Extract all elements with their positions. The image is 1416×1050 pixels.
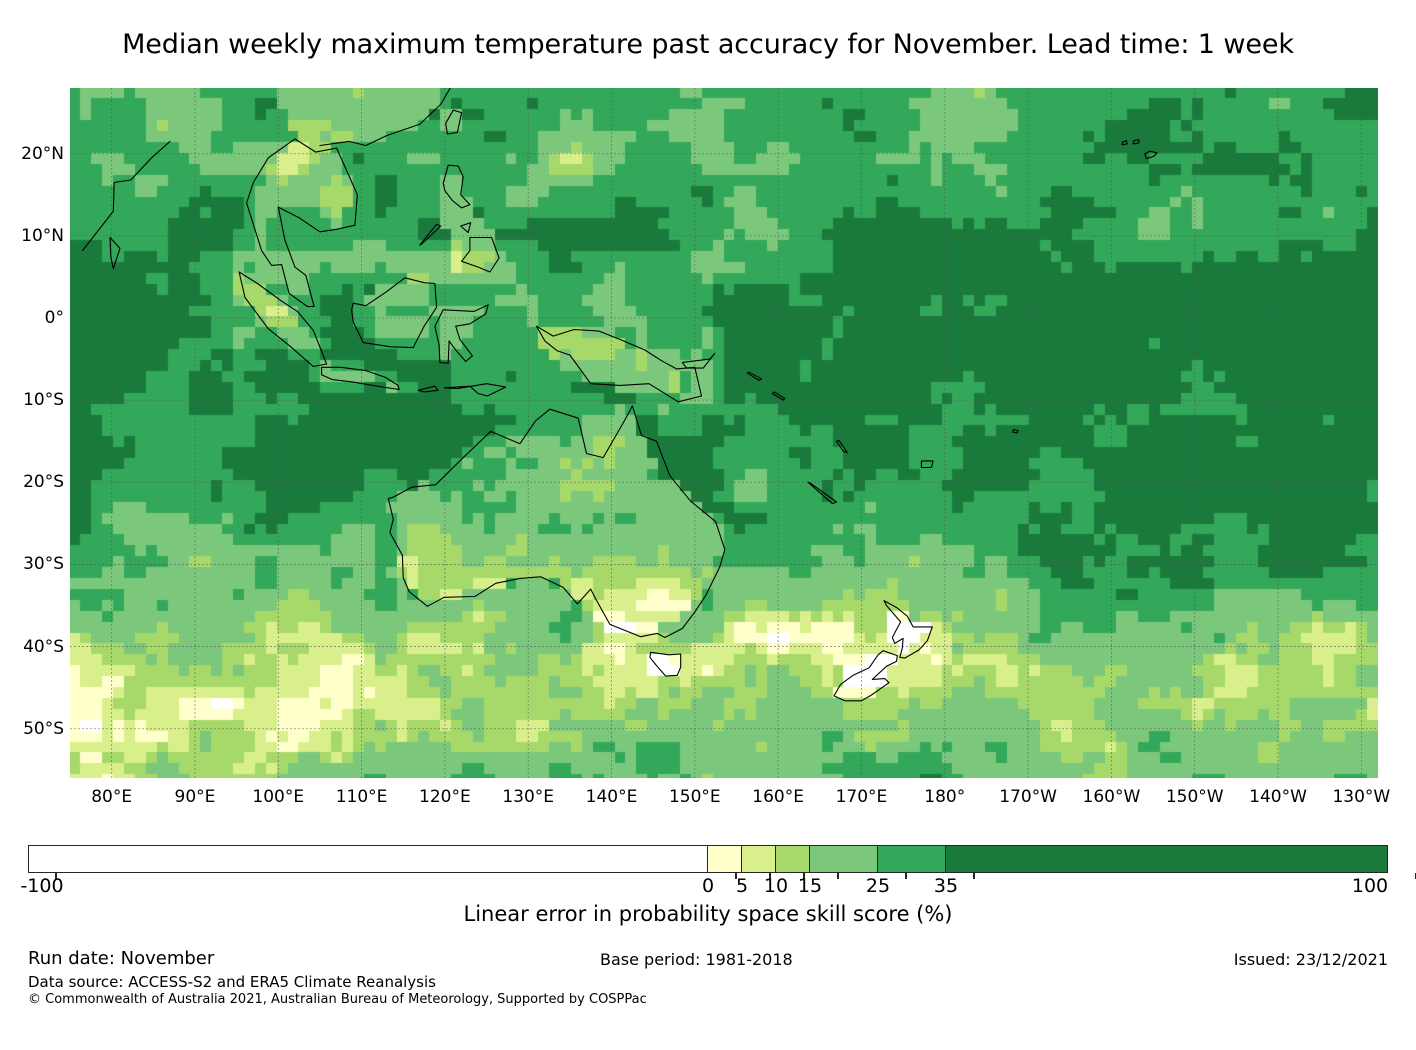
x-axis-tick-label: 90°E: [175, 789, 216, 806]
footer-issued-date: Issued: 23/12/2021: [1234, 950, 1388, 969]
x-axis-tick-label: 140°E: [586, 789, 638, 806]
x-axis-tick-label: 170°W: [999, 789, 1057, 806]
y-axis-tick-label: 10°N: [21, 228, 64, 245]
x-axis-tick-label: 120°E: [419, 789, 471, 806]
colorbar-tick-mark: [905, 873, 906, 879]
colorbar-tick-mark: [837, 873, 838, 879]
x-axis-tick-label: 160°E: [752, 789, 804, 806]
colorbar-segment: [708, 846, 742, 872]
colorbar-tick-label: 25: [866, 876, 890, 896]
y-axis-tick-label: 10°S: [23, 392, 64, 409]
colorbar-segment: [29, 846, 708, 872]
colorbar-tick-label: 5: [736, 876, 748, 896]
skill-score-heatmap: [70, 88, 1378, 778]
colorbar-title: Linear error in probability space skill …: [0, 902, 1416, 927]
y-axis-tick-label: 0°: [45, 310, 64, 327]
colorbar-segment: [946, 846, 1387, 872]
footer-run-date: Run date: November: [28, 948, 214, 969]
colorbar-segment: [742, 846, 776, 872]
footer-base-period: Base period: 1981-2018: [600, 950, 793, 969]
colorbar-gradient: [28, 845, 1388, 873]
y-axis-tick-label: 40°S: [23, 639, 64, 656]
y-axis-tick-label: 50°S: [23, 721, 64, 738]
x-axis-tick-label: 170°E: [836, 789, 888, 806]
map-plot-area: [70, 88, 1378, 778]
colorbar-tick-label: 0: [702, 876, 714, 896]
x-axis-tick-label: 130°E: [502, 789, 554, 806]
colorbar: [28, 845, 1388, 873]
x-axis-tick-label: 160°W: [1083, 789, 1141, 806]
footer-copyright: © Commonwealth of Australia 2021, Austra…: [28, 992, 647, 1007]
colorbar-tick-label: -100: [20, 876, 63, 896]
x-axis-tick-label: 130°W: [1332, 789, 1390, 806]
x-axis-tick-label: 140°W: [1249, 789, 1307, 806]
x-axis-tick-label: 180°: [924, 789, 965, 806]
colorbar-tick-label: 15: [798, 876, 822, 896]
colorbar-segment: [810, 846, 878, 872]
x-axis-tick-label: 150°W: [1166, 789, 1224, 806]
colorbar-tick-label: 35: [934, 876, 958, 896]
x-axis-tick-label: 150°E: [669, 789, 721, 806]
colorbar-segment: [878, 846, 946, 872]
footer-data-source: Data source: ACCESS-S2 and ERA5 Climate …: [28, 973, 436, 991]
y-axis-tick-label: 20°S: [23, 474, 64, 491]
colorbar-tick-label: 10: [764, 876, 788, 896]
colorbar-segment: [776, 846, 810, 872]
y-axis-tick-label: 30°S: [23, 556, 64, 573]
colorbar-tick-mark: [973, 873, 974, 879]
x-axis-tick-label: 100°E: [252, 789, 304, 806]
y-axis-tick-label: 20°N: [21, 146, 64, 163]
page-title: Median weekly maximum temperature past a…: [0, 28, 1416, 62]
x-axis-tick-label: 110°E: [336, 789, 388, 806]
colorbar-tick-label: 100: [1352, 876, 1388, 896]
x-axis-tick-label: 80°E: [91, 789, 132, 806]
